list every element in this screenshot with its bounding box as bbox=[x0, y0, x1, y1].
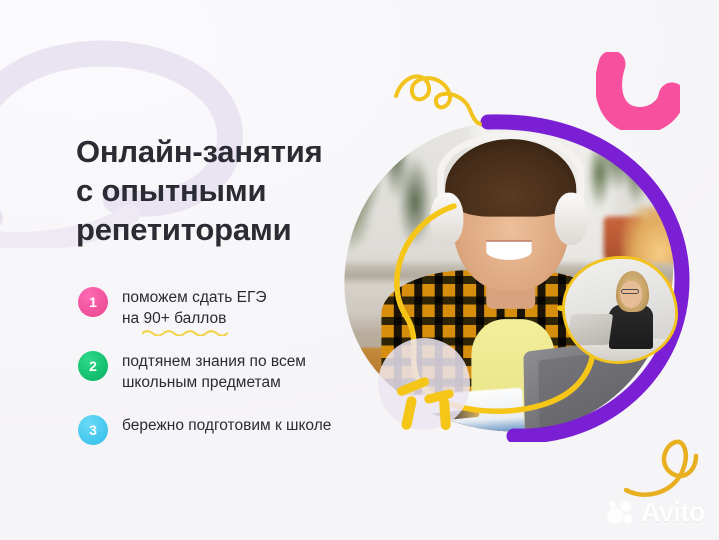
bullet-text: подтянем знания по всем школьным предмет… bbox=[122, 350, 306, 393]
promo-banner: Онлайн-занятия с опытными репетиторами 1… bbox=[0, 0, 719, 540]
bullet-number-badge: 2 bbox=[78, 351, 108, 381]
yellow-dash-decoration bbox=[439, 398, 451, 431]
teacher-face bbox=[620, 281, 642, 308]
headphone-earcup-right bbox=[554, 192, 588, 245]
bullet-highlight: 90+ баллов bbox=[144, 310, 227, 327]
wavy-underline-icon bbox=[142, 329, 231, 336]
avito-logo-icon bbox=[606, 500, 636, 526]
bullet-highlight-wrap: 90+ баллов bbox=[144, 309, 227, 330]
teacher-laptop bbox=[567, 314, 613, 345]
student-smile bbox=[486, 242, 531, 260]
bullet-text: поможем сдать ЕГЭ на 90+ баллов bbox=[122, 286, 267, 329]
plant-left bbox=[334, 111, 449, 270]
bullet-text: бережно подготовим к школе bbox=[122, 414, 331, 437]
glasses-icon bbox=[621, 289, 639, 294]
teacher-inset bbox=[562, 256, 678, 364]
bullet-number-badge: 1 bbox=[78, 287, 108, 317]
headphone-earcup-left bbox=[430, 192, 464, 245]
bullet-number-badge: 3 bbox=[78, 415, 108, 445]
teacher-inset-frame bbox=[562, 256, 678, 364]
avito-watermark-label: Avito bbox=[641, 497, 705, 528]
avito-watermark: Avito bbox=[606, 497, 705, 528]
